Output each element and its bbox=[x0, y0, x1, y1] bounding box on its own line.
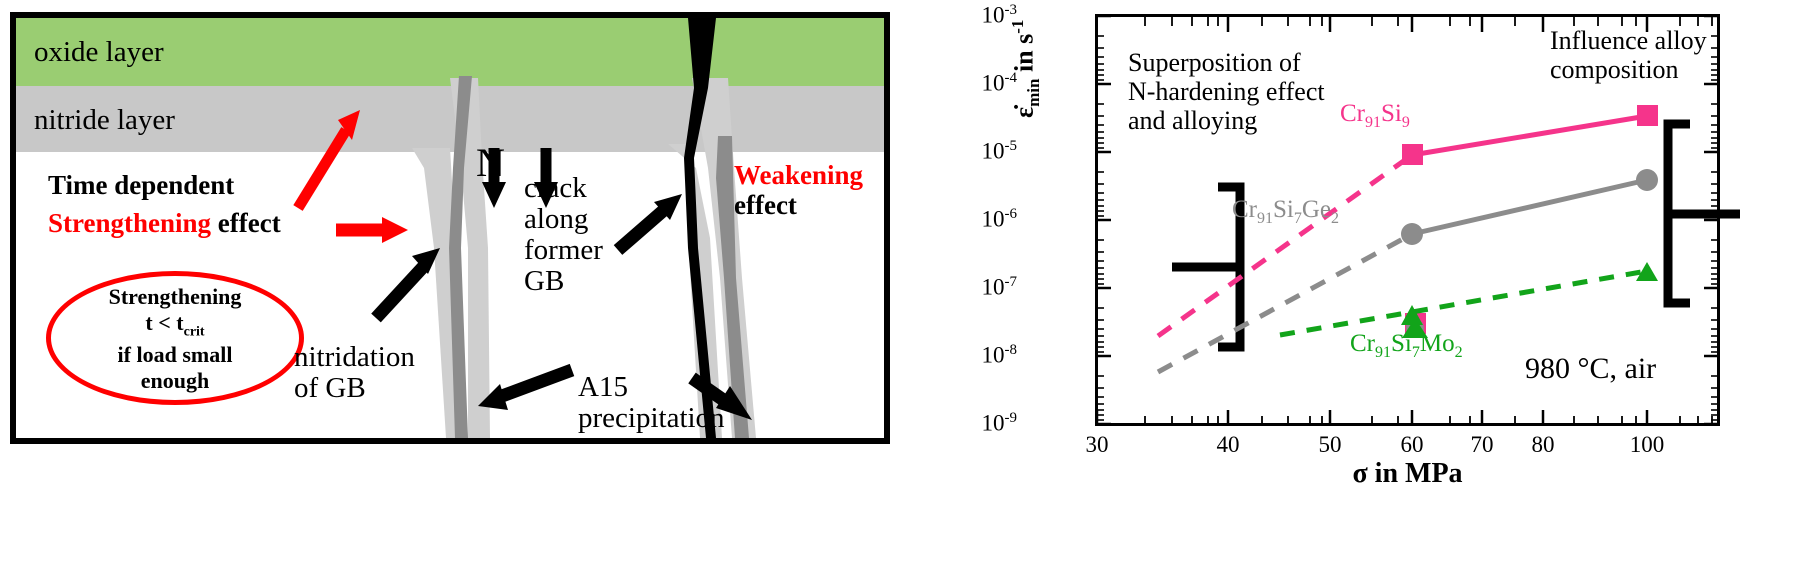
conditions-annotation: 980 °C, air bbox=[1525, 352, 1656, 386]
callout-line-2: t < tcrit bbox=[46, 310, 304, 341]
red-arrow-right bbox=[336, 217, 408, 243]
red-arrow-up bbox=[298, 110, 360, 208]
x-axis-title: σ in MPa bbox=[1095, 458, 1720, 490]
a15-arrow-left bbox=[478, 370, 572, 410]
y-axis-title: ε̇min in s-1 bbox=[1008, 20, 1044, 118]
callout-line-4: enough bbox=[46, 368, 304, 394]
ytick-label: 10-8 bbox=[982, 342, 1018, 369]
a15-precipitation-label: A15 precipitation bbox=[578, 372, 725, 434]
weakening-effect-word: effect bbox=[734, 190, 797, 220]
xtick-label: 30 bbox=[1086, 432, 1109, 458]
xtick-label: 50 bbox=[1319, 432, 1342, 458]
ytick-label: 10-5 bbox=[982, 138, 1018, 165]
superposition-annotation: Superposition of N-hardening effect and … bbox=[1128, 48, 1325, 135]
nitrogen-label: N bbox=[476, 142, 505, 185]
ytick-label: 10-9 bbox=[982, 410, 1018, 437]
strengthening-word: Strengthening bbox=[48, 208, 211, 238]
xtick-label: 70 bbox=[1471, 432, 1494, 458]
strengthening-effect-label: Strengthening effect bbox=[48, 208, 281, 238]
series-label-cr91si7mo2: Cr91Si7Mo2 bbox=[1350, 330, 1463, 362]
callout-line-3: if load small bbox=[46, 342, 304, 368]
callout-t-lt-t: t < t bbox=[145, 310, 183, 335]
xtick-label: 80 bbox=[1532, 432, 1555, 458]
black-arrow-to-crack bbox=[618, 194, 682, 250]
effect-word: effect bbox=[211, 208, 281, 238]
xtick-label: 40 bbox=[1217, 432, 1240, 458]
callout-line-1: Strengthening bbox=[46, 284, 304, 310]
xtick-label: 60 bbox=[1401, 432, 1424, 458]
crack-along-former-gb-label: crack along former GB bbox=[524, 173, 603, 297]
ytick-label: 10-6 bbox=[982, 206, 1018, 233]
time-dependent-label: Time dependent bbox=[48, 170, 234, 200]
callout-crit-subscript: crit bbox=[184, 325, 205, 340]
nitridation-of-gb-label: nitridation of GB bbox=[294, 342, 415, 404]
series-label-cr91si7ge2: Cr91Si7Ge2 bbox=[1232, 196, 1339, 228]
xtick-label: 100 bbox=[1630, 432, 1665, 458]
series-label-cr91si9: Cr91Si9 bbox=[1340, 100, 1410, 132]
nitride-layer-label: nitride layer bbox=[34, 104, 175, 137]
weakening-effect-label: Weakeningeffect bbox=[734, 160, 863, 220]
schematic-diagram: oxide layer nitride layer Time dependent… bbox=[10, 12, 890, 444]
creep-rate-chart: 10-3 10-4 10-5 10-6 10-7 10-8 10-9 30 40… bbox=[950, 0, 1795, 588]
influence-alloy-annotation: Influence alloy composition bbox=[1550, 26, 1707, 84]
ytick-label: 10-7 bbox=[982, 274, 1018, 301]
strengthening-callout-text: Strengthening t < tcrit if load small en… bbox=[46, 284, 304, 394]
oxide-layer-label: oxide layer bbox=[34, 36, 164, 69]
black-arrow-to-gb bbox=[376, 248, 440, 318]
weakening-word: Weakening bbox=[734, 160, 863, 190]
